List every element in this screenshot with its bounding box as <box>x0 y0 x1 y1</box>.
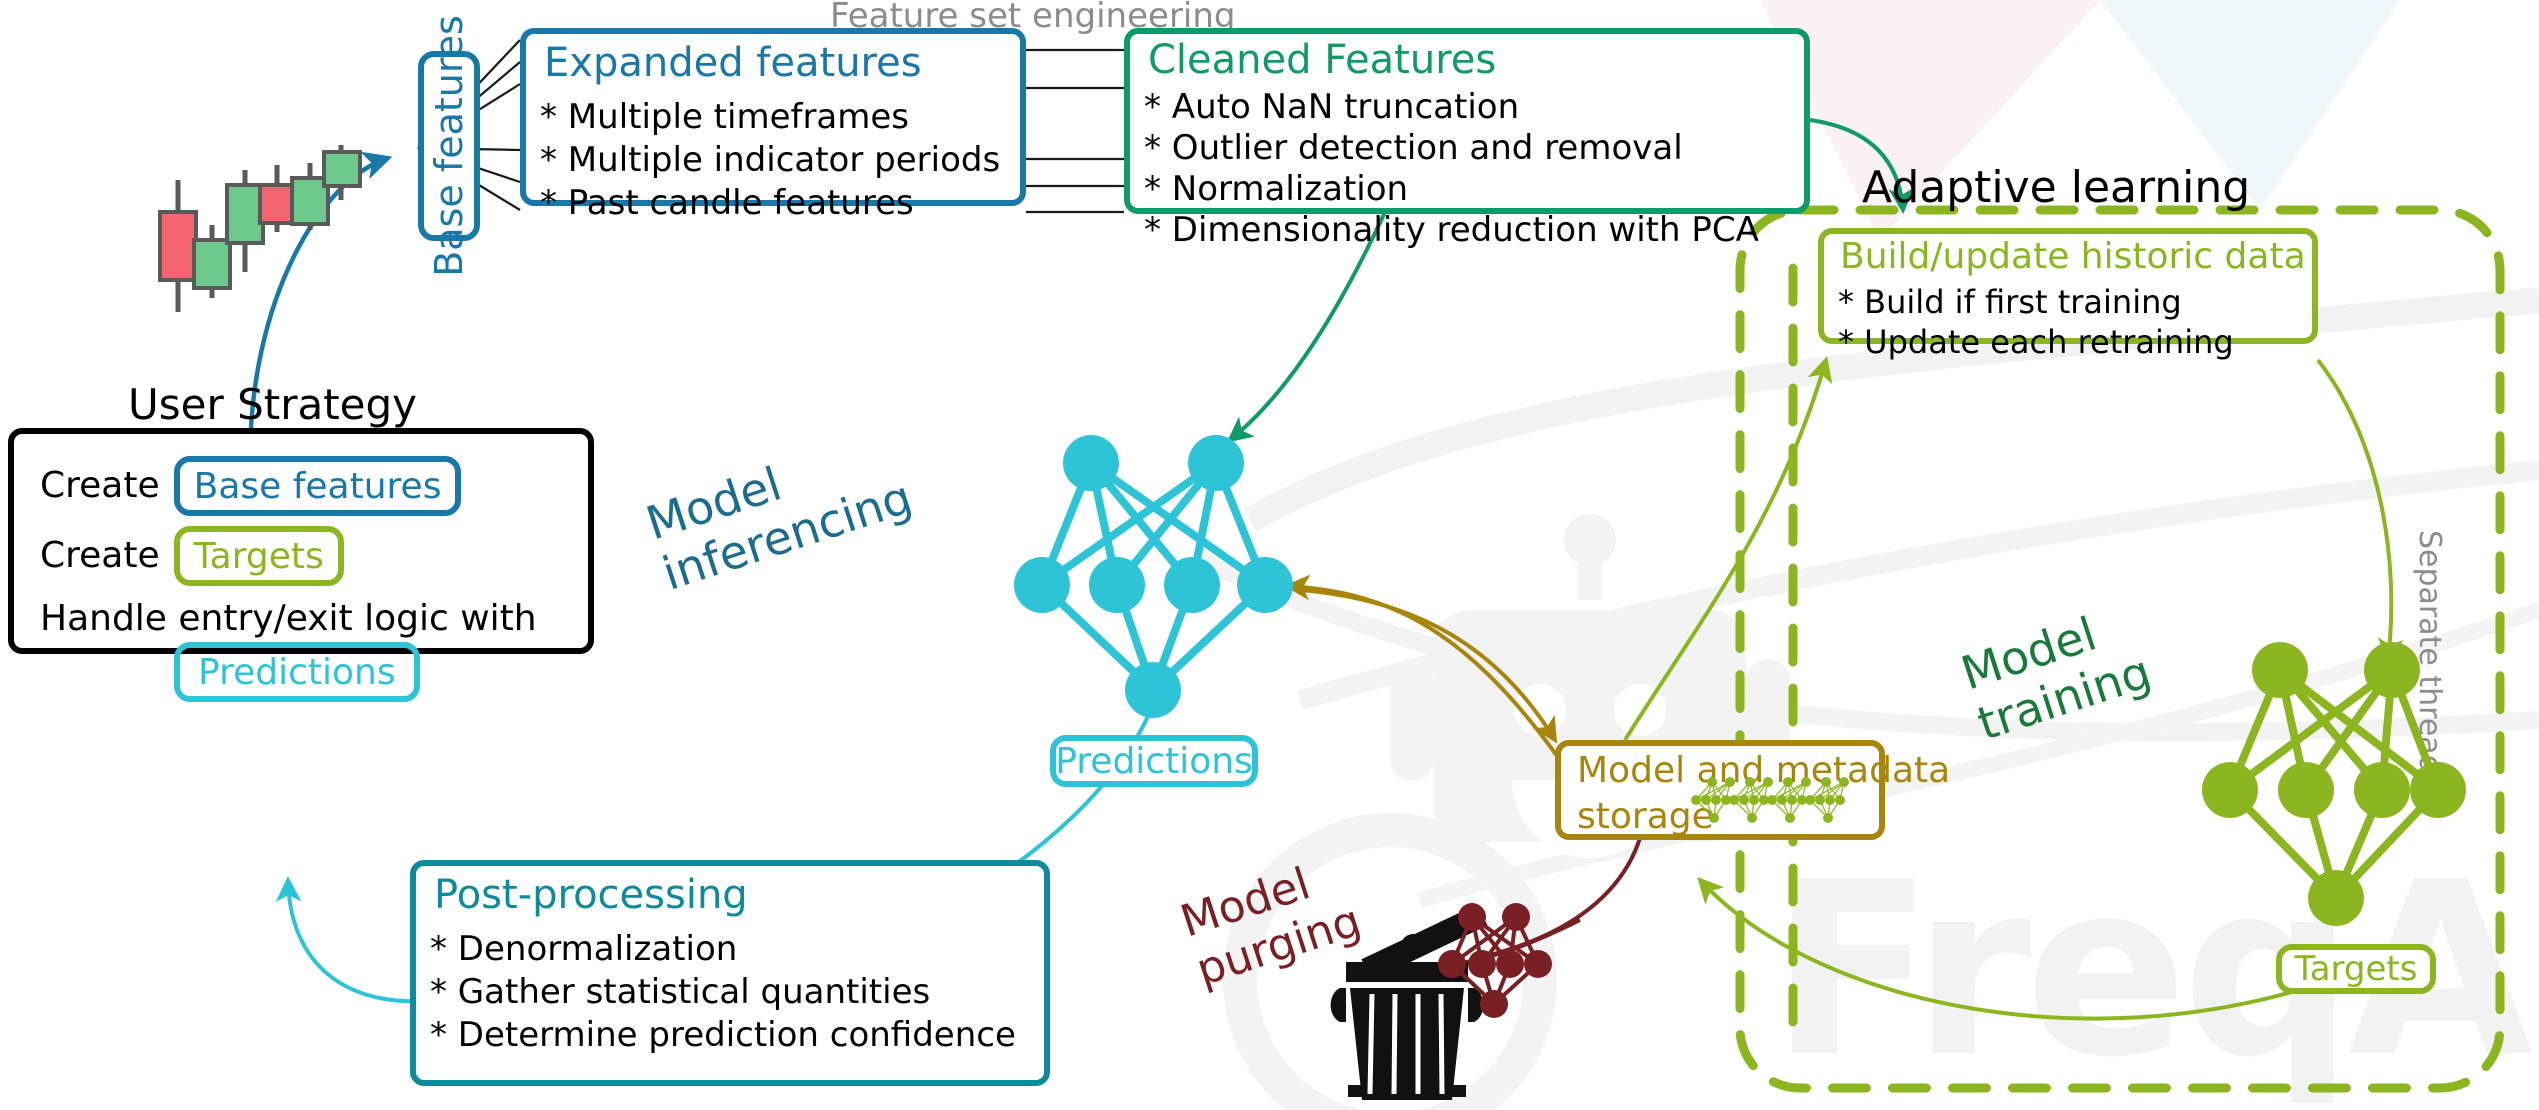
targets-pill-label: Targets <box>2295 949 2418 989</box>
training-neural-network-icon <box>0 0 2539 1104</box>
diagram-canvas: FreqAI <box>0 0 2539 1104</box>
targets-pill[interactable]: Targets <box>2276 944 2436 994</box>
